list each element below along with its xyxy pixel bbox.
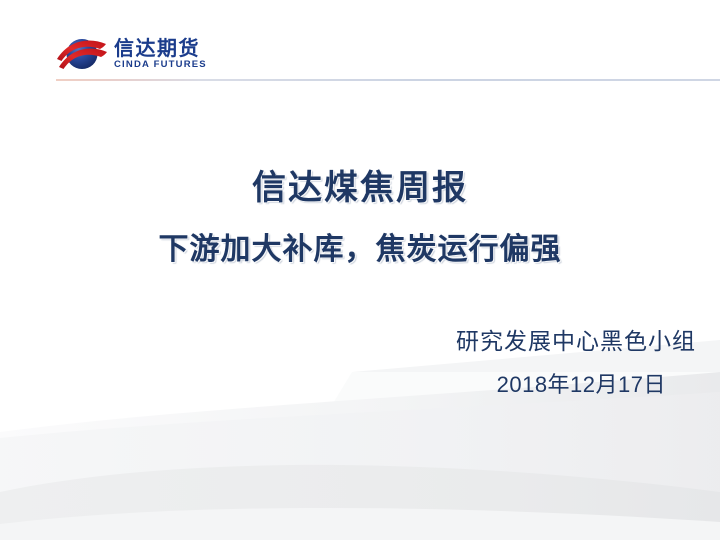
presentation-slide: 信达期货 CINDA FUTURES 信达煤焦周报 下游加大补库，焦炭运行偏强 … (0, 0, 720, 540)
byline-block: 研究发展中心黑色小组 2018年12月17日 (280, 328, 700, 398)
byline-author: 研究发展中心黑色小组 (280, 328, 700, 357)
company-logo: 信达期货 CINDA FUTURES (56, 34, 207, 74)
slide-subtitle: 下游加大补库，焦炭运行偏强 (0, 224, 720, 268)
logo-chinese-name: 信达期货 (114, 38, 207, 58)
slide-header: 信达期货 CINDA FUTURES (0, 0, 720, 86)
slide-title: 信达煤焦周报 (0, 160, 720, 209)
header-divider-rule (56, 79, 720, 81)
logo-english-name: CINDA FUTURES (114, 60, 207, 70)
cinda-logo-mark-icon (56, 36, 108, 72)
byline-date: 2018年12月17日 (280, 371, 700, 399)
logo-wordmark: 信达期货 CINDA FUTURES (114, 38, 207, 70)
